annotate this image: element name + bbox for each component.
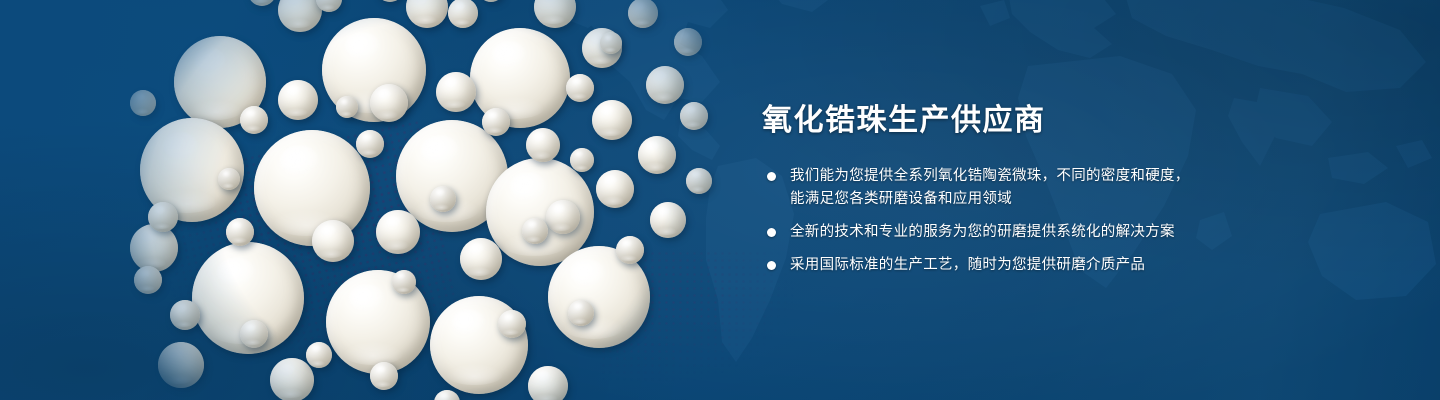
feature-list: 我们能为您提供全系列氧化锆陶瓷微珠，不同的密度和硬度， 能满足您各类研磨设备和应… (762, 165, 1262, 276)
list-item: 我们能为您提供全系列氧化锆陶瓷微珠，不同的密度和硬度， 能满足您各类研磨设备和应… (762, 165, 1262, 210)
hero-copy: 氧化锆珠生产供应商 我们能为您提供全系列氧化锆陶瓷微珠，不同的密度和硬度， 能满… (762, 104, 1262, 276)
list-item: 全新的技术和专业的服务为您的研磨提供系统化的解决方案 (762, 221, 1262, 243)
list-item: 采用国际标准的生产工艺，随时为您提供研磨介质产品 (762, 254, 1262, 276)
bullet-dot-icon (767, 228, 776, 237)
page-title: 氧化锆珠生产供应商 (762, 104, 1262, 137)
list-item-line: 采用国际标准的生产工艺，随时为您提供研磨介质产品 (790, 254, 1262, 276)
list-item-line: 全新的技术和专业的服务为您的研磨提供系统化的解决方案 (790, 221, 1262, 243)
list-item-line: 能满足您各类研磨设备和应用领域 (790, 188, 1262, 210)
bullet-dot-icon (767, 172, 776, 181)
hero-banner: 氧化锆珠生产供应商 我们能为您提供全系列氧化锆陶瓷微珠，不同的密度和硬度， 能满… (0, 0, 1440, 400)
bullet-dot-icon (767, 261, 776, 270)
list-item-line: 我们能为您提供全系列氧化锆陶瓷微珠，不同的密度和硬度， (790, 165, 1262, 187)
